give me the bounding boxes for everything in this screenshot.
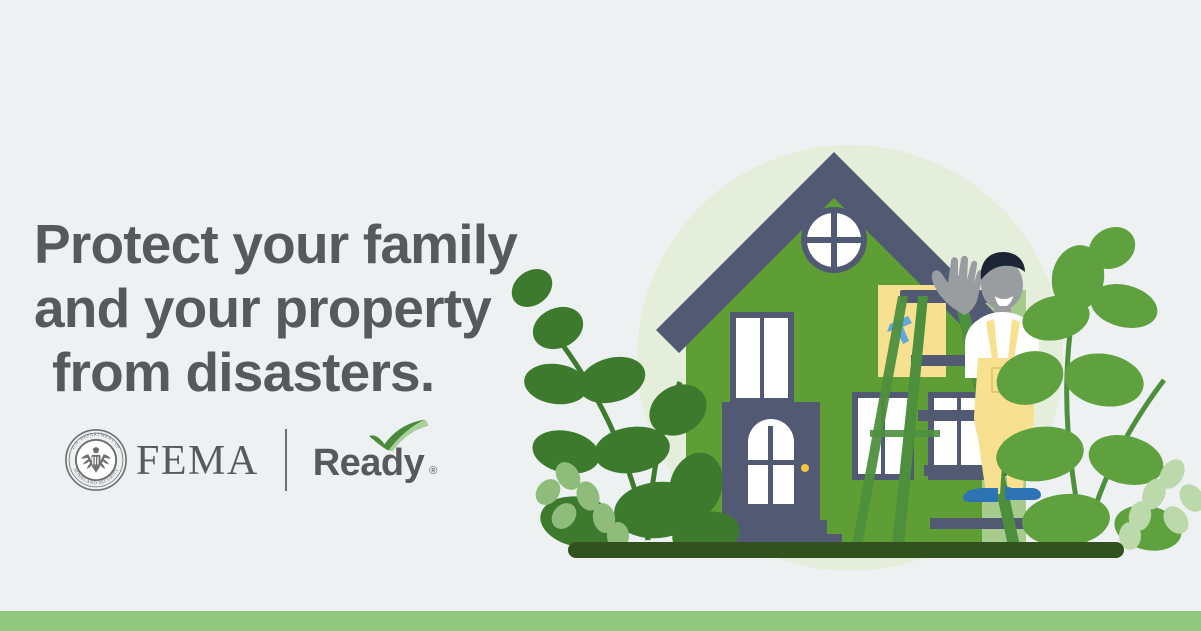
dhs-seal-icon: U.S. DEPARTMENT OF HOMELAND SECURITY bbox=[64, 428, 128, 492]
page-title: Protect your family and your property fr… bbox=[34, 212, 554, 404]
registered-mark: ® bbox=[429, 466, 437, 477]
ready-checkmark-icon bbox=[367, 418, 429, 452]
upstairs-window bbox=[730, 312, 794, 404]
logo-divider bbox=[285, 429, 287, 491]
front-door bbox=[722, 402, 820, 522]
round-window bbox=[801, 207, 867, 273]
fema-wordmark: FEMA bbox=[136, 440, 259, 482]
ready-logo: Ready ® bbox=[313, 438, 438, 482]
bottom-accent-bar bbox=[0, 611, 1201, 631]
logo-lockup: U.S. DEPARTMENT OF HOMELAND SECURITY FEM… bbox=[64, 424, 437, 496]
worker-shoe-right bbox=[1005, 486, 1041, 500]
illustration-canvas bbox=[500, 130, 1201, 570]
headline-line-3: from disasters. bbox=[34, 340, 554, 404]
house-preparedness-illustration bbox=[500, 130, 1201, 570]
ground-bar bbox=[568, 542, 1124, 558]
headline-line-1: Protect your family bbox=[34, 212, 554, 276]
fema-ready-banner: Protect your family and your property fr… bbox=[0, 0, 1201, 631]
door-knob bbox=[801, 464, 809, 472]
headline-line-2: and your property bbox=[34, 276, 554, 340]
